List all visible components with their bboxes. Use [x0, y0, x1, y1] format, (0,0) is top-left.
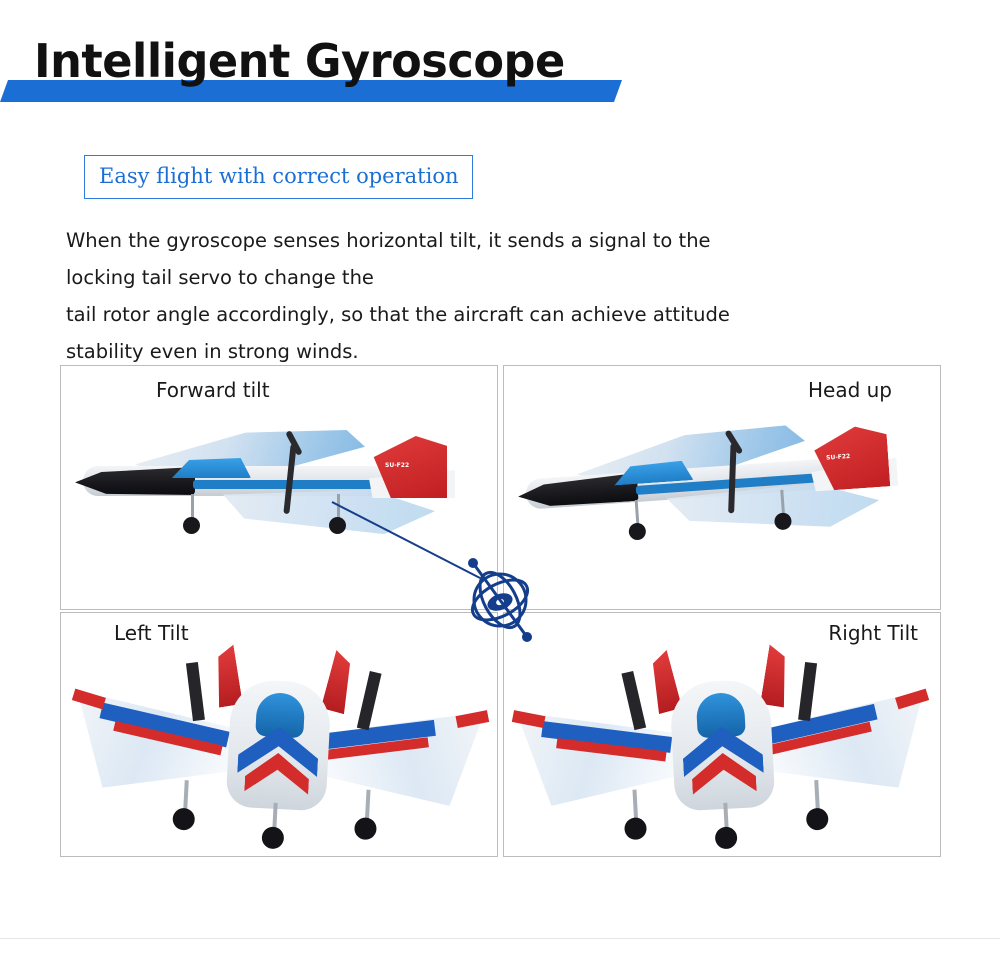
- panel-label-forward-tilt: Forward tilt: [156, 377, 270, 403]
- page-header: Intelligent Gyroscope: [0, 0, 1000, 118]
- panel-right-tilt: [60, 612, 498, 857]
- aircraft-front-view-right-tilt: [64, 624, 494, 856]
- panel-label-head-up: Head up: [808, 377, 892, 403]
- subtitle-callout: Easy flight with correct operation: [84, 155, 473, 199]
- description-line-1: When the gyroscope senses horizontal til…: [66, 222, 846, 259]
- panel-label-right-tilt: Right Tilt: [828, 620, 918, 646]
- subtitle-text: Easy flight with correct operation: [99, 164, 458, 188]
- description-line-3: tail rotor angle accordingly, so that th…: [66, 296, 846, 333]
- brand-mark: SG: [201, 480, 213, 489]
- brand-mark: SG: [644, 485, 657, 495]
- description-line-2: locking tail servo to change the: [66, 259, 846, 296]
- gyroscope-icon: [455, 545, 545, 645]
- landing-gear-leg: [365, 790, 371, 820]
- aircraft-side-view-forward-tilt: SG SU-F22: [512, 404, 933, 572]
- right-vertical-stabilizer: [321, 650, 360, 714]
- landing-gear-wheel: [354, 817, 377, 840]
- nose-gear-wheel: [715, 826, 738, 849]
- right-propeller-boom: [798, 662, 817, 721]
- panel-left-tilt: [503, 612, 941, 857]
- landing-gear-wheel: [183, 517, 200, 534]
- landing-gear-leg: [183, 780, 189, 810]
- landing-gear-wheel: [774, 512, 792, 530]
- page-title: Intelligent Gyroscope: [34, 34, 565, 88]
- landing-gear-wheel: [624, 817, 647, 840]
- nose-gear-wheel: [261, 826, 284, 849]
- landing-gear-wheel: [806, 808, 829, 831]
- aircraft-front-view-left-tilt: [507, 624, 937, 856]
- left-propeller-boom: [621, 671, 646, 730]
- left-wingtip: [512, 710, 546, 728]
- left-propeller-boom: [186, 662, 205, 721]
- model-badge: SU-F22: [385, 462, 409, 469]
- landing-gear-wheel: [628, 522, 646, 540]
- right-propeller-boom: [357, 671, 382, 730]
- landing-gear-leg: [814, 780, 820, 810]
- panel-label-left-tilt: Left Tilt: [114, 620, 189, 646]
- right-vertical-stabilizer: [760, 645, 793, 708]
- landing-gear-leg: [632, 790, 638, 820]
- page-bottom-divider: [0, 938, 1000, 939]
- description-paragraph: When the gyroscope senses horizontal til…: [66, 222, 846, 370]
- landing-gear-wheel: [172, 808, 195, 831]
